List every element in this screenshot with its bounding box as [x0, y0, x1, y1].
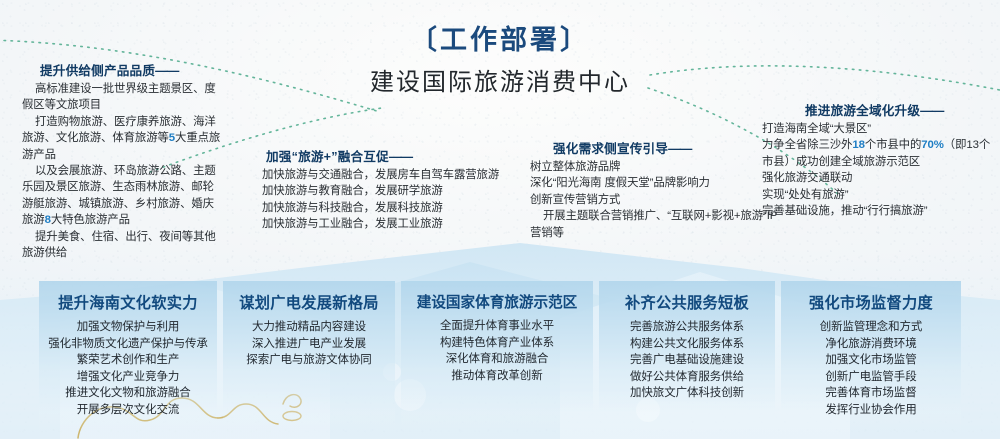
title-rule: —— — [155, 64, 178, 78]
block-demand-promotion: 强化需求侧宣传引导—— 树立整体旅游品牌 深化“阳光海南 度假天堂”品牌影响力 … — [530, 138, 780, 241]
card-cultural-soft-power[interactable]: 提升海南文化软实力 加强文物保护与利用 强化非物质文化遗产保护与传承 繁荣艺术创… — [39, 281, 217, 431]
list-item: 强化非物质文化遗产保护与传承 — [45, 336, 211, 353]
list-item: 增强文化产业竞争力 — [45, 369, 211, 386]
list-item: 加快旅游与教育融合，发展研学旅游 — [262, 183, 520, 199]
title-rule: —— — [389, 150, 412, 164]
list-item: 加快旅游与工业融合，发展工业旅游 — [262, 216, 520, 232]
card-item-list: 大力推动精品内容建设 深入推进广电产业发展 探索广电与旅游文体协同 — [229, 319, 389, 369]
list-item: 完善旅游公共服务体系 — [605, 319, 769, 336]
highlight-number: 5 — [169, 132, 175, 144]
list-item: 树立整体旅游品牌 — [530, 159, 780, 175]
list-item: 净化旅游消费环境 — [787, 336, 955, 353]
list-item: 深化“阳光海南 度假天堂”品牌影响力 — [530, 175, 780, 191]
card-title: 提升海南文化软实力 — [45, 291, 211, 313]
list-item: 加快旅游与交通融合，发展房车自驾车露营旅游 — [262, 167, 520, 183]
block-tourism-plus-fusion: 加强“旅游+”融合互促—— 加快旅游与交通融合，发展房车自驾车露营旅游 加快旅游… — [262, 146, 520, 233]
list-item: 创新监管理念和方式 — [787, 319, 955, 336]
card-sports-tourism-demo-zone[interactable]: 建设国家体育旅游示范区 全面提升体育事业水平 构建特色体育产业体系 深化体育和旅… — [401, 281, 593, 431]
list-item: 实现“处处有旅游” — [762, 187, 998, 203]
block-region-wide-upgrade-list: 打造海南全域“大景区” 力争全省除三沙外18个市县中的70%（即13个市县）成功… — [762, 121, 998, 219]
list-item: 完善基础设施，推动“行行搞旅游” — [762, 203, 998, 219]
list-item: 完善体育市场监督 — [787, 385, 955, 402]
list-item: 打造购物旅游、医疗康养旅游、海洋旅游、文化旅游、体育旅游等5大重点旅游产品 — [22, 114, 222, 163]
card-market-supervision[interactable]: 强化市场监督力度 创新监管理念和方式 净化旅游消费环境 加强文化市场监管 创新广… — [781, 281, 961, 431]
card-item-list: 加强文物保护与利用 强化非物质文化遗产保护与传承 繁荣艺术创作和生产 增强文化产… — [45, 319, 211, 419]
block-supply-quality: 提升供给侧产品品质—— 高标准建设一批世界级主题景区、度假区等文旅项目 打造购物… — [22, 60, 222, 261]
list-item: 深入推进广电产业发展 — [229, 336, 389, 353]
block-region-wide-upgrade-title: 推进旅游全域化升级—— — [762, 100, 998, 119]
list-item: 探索广电与旅游文体协同 — [229, 352, 389, 369]
title-rule: —— — [668, 142, 691, 156]
card-title: 强化市场监督力度 — [787, 291, 955, 313]
list-item: 发挥行业协会作用 — [787, 402, 955, 419]
block-region-wide-upgrade: 推进旅游全域化升级—— 打造海南全域“大景区” 力争全省除三沙外18个市县中的7… — [762, 100, 998, 219]
card-title: 谋划广电发展新格局 — [229, 291, 389, 313]
list-item: 加强文化市场监管 — [787, 352, 955, 369]
list-item: 推进文化文物和旅游融合 — [45, 385, 211, 402]
card-broadcasting-new-pattern[interactable]: 谋划广电发展新格局 大力推动精品内容建设 深入推进广电产业发展 探索广电与旅游文… — [223, 281, 395, 431]
card-item-list: 全面提升体育事业水平 构建特色体育产业体系 深化体育和旅游融合 推动体育改革创新 — [407, 318, 587, 384]
block-supply-quality-title: 提升供给侧产品品质—— — [22, 60, 222, 79]
list-item: 打造海南全域“大景区” — [762, 121, 998, 137]
highlight-number: 8 — [45, 214, 51, 226]
block-supply-quality-list: 高标准建设一批世界级主题景区、度假区等文旅项目 打造购物旅游、医疗康养旅游、海洋… — [22, 81, 222, 261]
card-item-list: 创新监管理念和方式 净化旅游消费环境 加强文化市场监管 创新广电监管手段 完善体… — [787, 319, 955, 419]
list-item: 构建公共文化服务体系 — [605, 336, 769, 353]
block-tourism-plus-fusion-title: 加强“旅游+”融合互促—— — [262, 146, 520, 165]
infographic-canvas: 〔工作部署〕 建设国际旅游消费中心 提升供给侧产品品质—— 高标准建设一批世界级… — [0, 0, 1000, 439]
list-item: 繁荣艺术创作和生产 — [45, 352, 211, 369]
block-tourism-plus-fusion-list: 加快旅游与交通融合，发展房车自驾车露营旅游 加快旅游与教育融合，发展研学旅游 加… — [262, 167, 520, 233]
list-item: 开展多层次文化交流 — [45, 402, 211, 419]
bottom-card-row: 提升海南文化软实力 加强文物保护与利用 强化非物质文化遗产保护与传承 繁荣艺术创… — [0, 279, 1000, 439]
list-item: 开展主题联合营销推广、“互联网+影视+旅游”IP营销等 — [530, 208, 780, 241]
list-item: 强化旅游交通联动 — [762, 170, 998, 186]
list-item: 全面提升体育事业水平 — [407, 318, 587, 335]
block-demand-promotion-title: 强化需求侧宣传引导—— — [530, 138, 780, 157]
list-item: 高标准建设一批世界级主题景区、度假区等文旅项目 — [22, 81, 222, 114]
list-item: 提升美食、住宿、出行、夜间等其他旅游供给 — [22, 229, 222, 262]
list-item: 加快旅游与科技融合，发展科技旅游 — [262, 200, 520, 216]
highlight-number: 18 — [852, 139, 864, 151]
list-item: 创新宣传营销方式 — [530, 192, 780, 208]
card-title: 补齐公共服务短板 — [605, 291, 769, 313]
list-item: 加强文物保护与利用 — [45, 319, 211, 336]
page-title: 〔工作部署〕 — [0, 24, 1000, 58]
card-public-service-gaps[interactable]: 补齐公共服务短板 完善旅游公共服务体系 构建公共文化服务体系 完善广电基础设施建… — [599, 281, 775, 431]
list-item: 大力推动精品内容建设 — [229, 319, 389, 336]
list-item: 加快旅文广体科技创新 — [605, 385, 769, 402]
list-item: 力争全省除三沙外18个市县中的70%（即13个市县）成功创建全域旅游示范区 — [762, 137, 998, 170]
list-item: 构建特色体育产业体系 — [407, 335, 587, 352]
list-item: 深化体育和旅游融合 — [407, 351, 587, 368]
block-demand-promotion-list: 树立整体旅游品牌 深化“阳光海南 度假天堂”品牌影响力 创新宣传营销方式 开展主… — [530, 159, 780, 241]
list-item: 以及会展旅游、环岛旅游公路、主题乐园及景区旅游、生态雨林旅游、邮轮游艇旅游、城镇… — [22, 163, 222, 229]
card-title: 建设国家体育旅游示范区 — [407, 291, 587, 312]
list-item: 推动体育改革创新 — [407, 368, 587, 385]
list-item: 创新广电监管手段 — [787, 369, 955, 386]
list-item: 做好公共体育服务供给 — [605, 369, 769, 386]
highlight-number: 70% — [921, 139, 944, 151]
title-rule: —— — [920, 104, 943, 118]
card-item-list: 完善旅游公共服务体系 构建公共文化服务体系 完善广电基础设施建设 做好公共体育服… — [605, 319, 769, 402]
list-item: 完善广电基础设施建设 — [605, 352, 769, 369]
